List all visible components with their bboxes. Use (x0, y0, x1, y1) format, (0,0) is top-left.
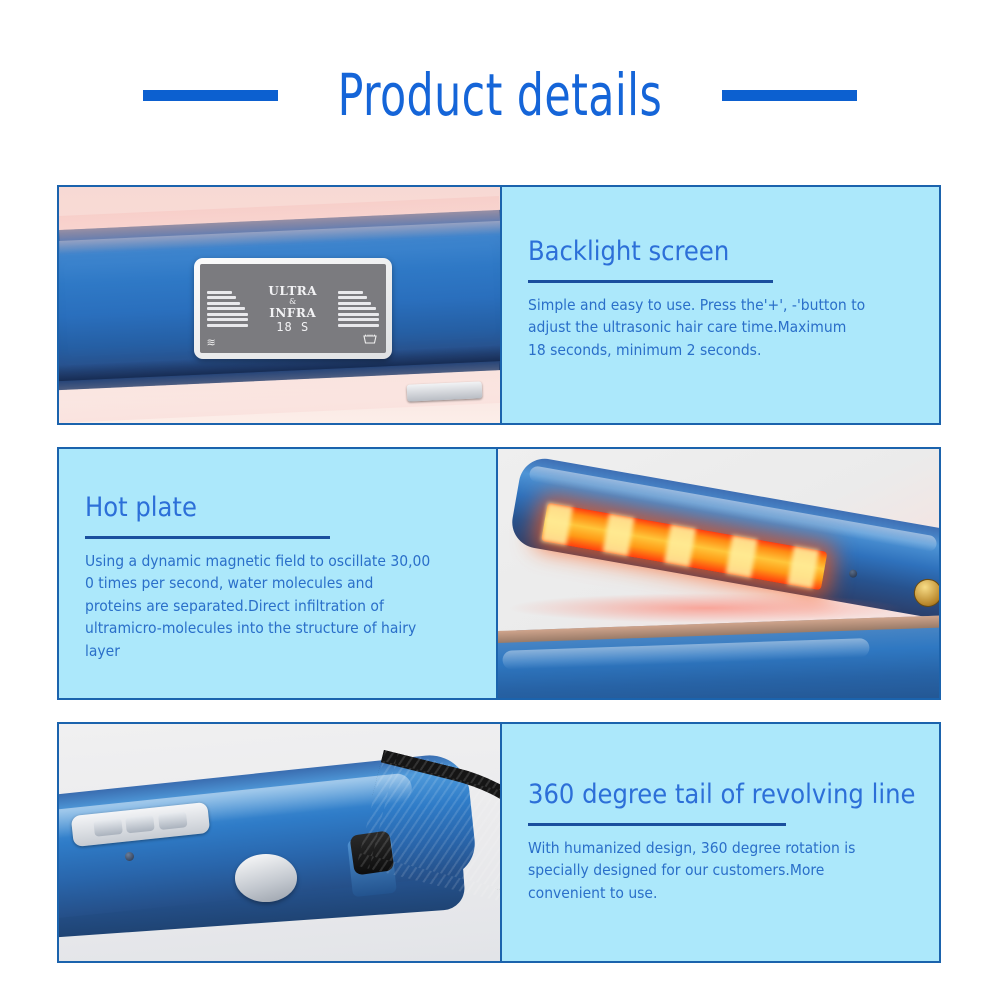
control-button (94, 819, 123, 838)
lcd-readout: ULTRA & INFRA 18 S (248, 285, 338, 333)
control-button (158, 812, 187, 831)
hinge-pin (235, 854, 297, 901)
lcd-ampersand: & (248, 298, 338, 306)
feature-heading: Hot plate (85, 493, 482, 523)
power-slider-switch (407, 381, 483, 401)
feature-heading: 360 degree tail of revolving line (528, 780, 925, 810)
product-photo-revolving-line (59, 724, 500, 961)
feature-description: With humanized design, 360 degree rotati… (528, 837, 925, 904)
lcd-bars-right (338, 291, 379, 327)
header-rule-right (722, 90, 857, 101)
lcd-screen: ULTRA & INFRA 18 S ≋ (200, 264, 386, 353)
page-header: Product details (0, 55, 1000, 135)
control-button (126, 815, 155, 834)
feature-copy-revolving-line: 360 degree tail of revolving line With h… (500, 724, 939, 961)
product-photo-hot-plate (498, 449, 939, 698)
feature-description: Simple and easy to use. Press the'+', -'… (528, 294, 925, 361)
feature-copy-hot-plate: Hot plate Using a dynamic magnetic field… (59, 449, 498, 698)
heading-underline (528, 280, 773, 283)
lcd-bars-left (207, 291, 248, 327)
feature-panel-revolving-line: 360 degree tail of revolving line With h… (57, 722, 941, 963)
lcd-timer-value: 18 S (248, 321, 338, 333)
steam-basket-icon (363, 331, 377, 349)
product-photo-backlight-screen: ULTRA & INFRA 18 S ≋ (59, 187, 500, 423)
heading-underline (85, 536, 330, 539)
page-title: Product details (338, 66, 663, 124)
lcd-line-infra: INFRA (248, 307, 338, 319)
feature-panel-backlight-screen: ULTRA & INFRA 18 S ≋ Ba (57, 185, 941, 425)
feature-heading: Backlight screen (528, 237, 925, 267)
lcd-bezel: ULTRA & INFRA 18 S ≋ (194, 258, 392, 359)
heading-underline (528, 823, 786, 826)
header-rule-left (143, 90, 278, 101)
feature-description: Using a dynamic magnetic field to oscill… (85, 550, 482, 662)
feature-panel-hot-plate: Hot plate Using a dynamic magnetic field… (57, 447, 941, 700)
heat-wave-icon: ≋ (207, 338, 215, 349)
feature-copy-backlight-screen: Backlight screen Simple and easy to use.… (500, 187, 939, 423)
lcd-line-ultra: ULTRA (248, 285, 338, 297)
jaw-screw (848, 569, 857, 578)
